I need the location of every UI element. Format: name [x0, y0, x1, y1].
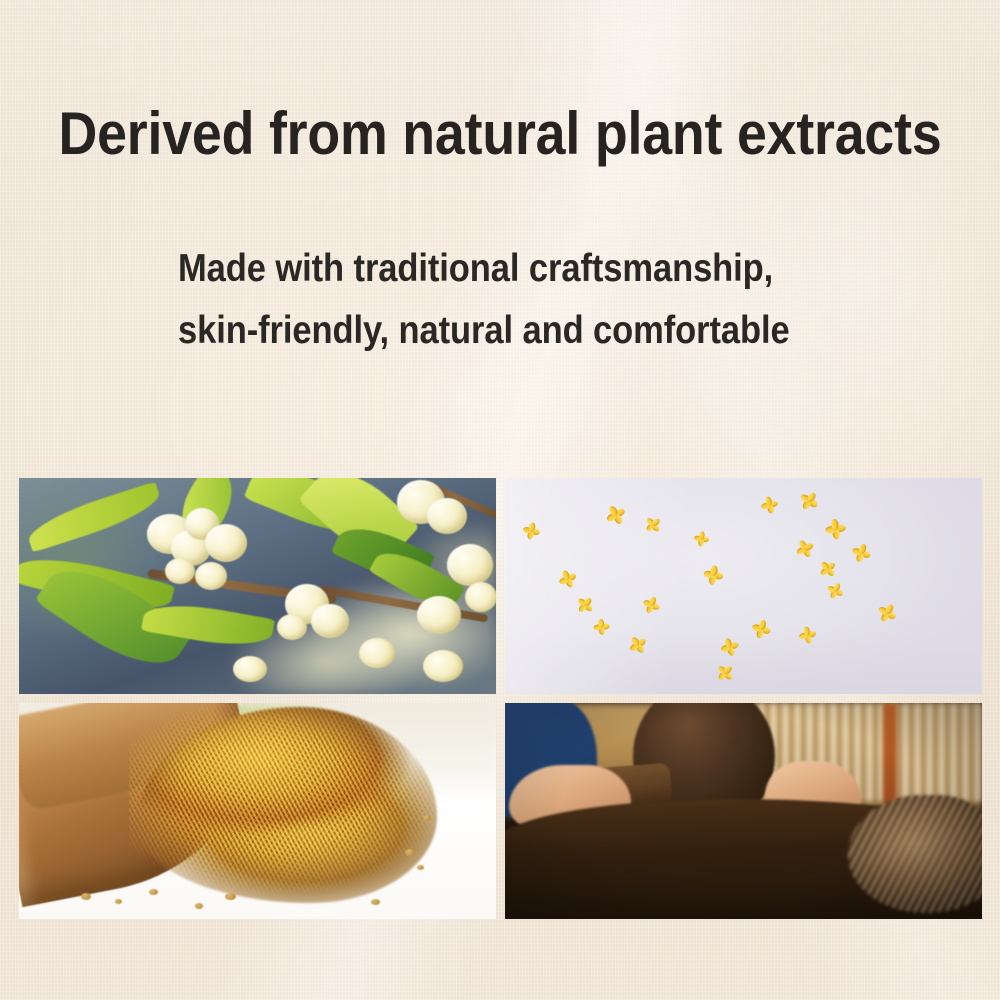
osmanthus-bloom: [417, 596, 461, 634]
photo-vignette: [505, 703, 982, 919]
subtitle-line-2: skin-friendly, natural and comfortable: [178, 300, 851, 362]
blossom-floret: [693, 530, 710, 547]
spilled-flower: [115, 899, 122, 904]
osmanthus-bloom: [311, 604, 349, 638]
osmanthus-bloom: [359, 638, 395, 668]
subtitle-line-1: Made with traditional craftsmanship,: [178, 238, 851, 300]
page-title: Derived from natural plant extracts: [53, 102, 948, 166]
spilled-flower: [225, 893, 236, 900]
osmanthus-bloom: [465, 582, 496, 612]
blossom-floret: [824, 517, 847, 540]
osmanthus-bloom: [165, 558, 195, 584]
dried-flower-grain-texture: [129, 703, 459, 913]
blossom-floret: [797, 624, 817, 644]
spilled-flower: [149, 889, 158, 895]
photo-fresh-blossoms: [505, 478, 982, 694]
spilled-flower: [423, 815, 431, 821]
osmanthus-bloom: [427, 498, 467, 534]
photo-osmanthus-branch: [19, 478, 496, 694]
osmanthus-bloom: [233, 656, 267, 682]
subtitle-block: Made with traditional craftsmanship, ski…: [178, 238, 938, 362]
blossom-floret: [521, 520, 541, 540]
osmanthus-bloom: [447, 544, 493, 586]
blossom-floret: [593, 618, 611, 636]
spilled-flower: [81, 893, 91, 900]
photo-gallery-grid: [19, 478, 982, 925]
blossom-floret: [702, 563, 725, 586]
product-feature-banner: Derived from natural plant extracts Made…: [0, 0, 1000, 1000]
photo-dried-flowers-scoop: [19, 703, 496, 919]
photo-traditional-grinding: [505, 703, 982, 919]
osmanthus-bloom: [205, 524, 247, 562]
osmanthus-bloom: [195, 562, 227, 590]
cloth-surface: [505, 478, 982, 694]
spilled-flower: [195, 903, 203, 909]
spilled-flower: [405, 849, 415, 856]
spilled-flower: [371, 899, 380, 905]
spilled-flower: [417, 865, 424, 870]
osmanthus-bloom: [423, 650, 463, 682]
osmanthus-bloom: [277, 614, 307, 640]
